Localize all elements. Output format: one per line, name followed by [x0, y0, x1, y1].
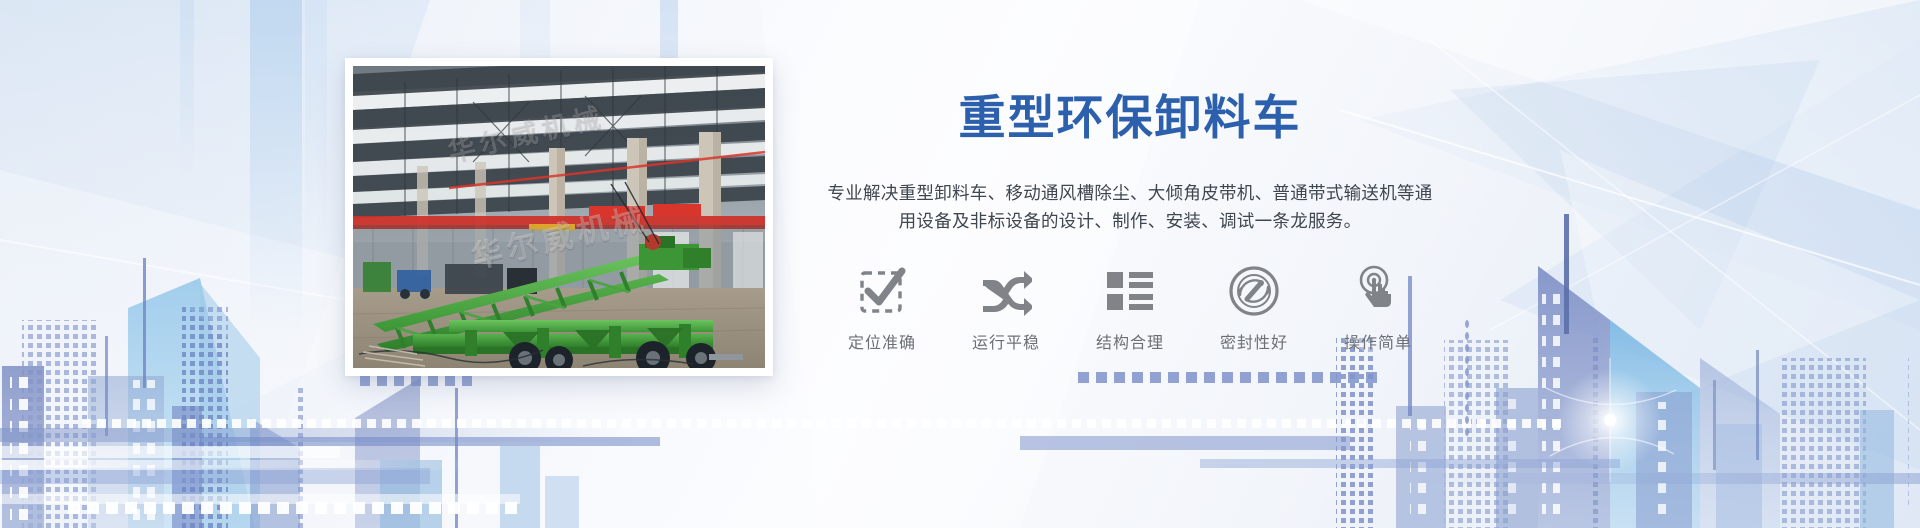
deco-square-rule [360, 376, 472, 386]
feature-label: 操作简单 [1344, 329, 1412, 353]
deco-column [180, 0, 194, 180]
deco-column [250, 0, 302, 330]
feature-label: 密封性好 [1220, 329, 1288, 353]
seal-gauge-icon [1228, 265, 1280, 317]
deco-bar [1400, 473, 1920, 484]
feature-label: 运行平稳 [972, 329, 1040, 353]
deco-square-rule [68, 502, 517, 514]
list-layout-icon [1104, 265, 1156, 317]
product-banner: 华尔威机械 华尔威机械 重型环保卸料车 专业解决重型卸料车、移动通风槽除尘、大倾… [0, 0, 1920, 528]
feature-label: 定位准确 [848, 329, 916, 353]
deco-bar [200, 437, 660, 446]
product-photo-card[interactable]: 华尔威机械 华尔威机械 [345, 58, 773, 376]
feature-item-structure[interactable]: 结构合理 [1068, 265, 1192, 353]
feature-item-smooth-operation[interactable]: 运行平稳 [944, 265, 1068, 353]
deco-dot-rule [82, 419, 1561, 428]
deco-bar [0, 460, 480, 470]
banner-content: 重型环保卸料车 专业解决重型卸料车、移动通风槽除尘、大倾角皮带机、普通带式输送机… [820, 92, 1440, 353]
product-photo: 华尔威机械 华尔威机械 [353, 66, 765, 368]
deco-column [305, 0, 327, 250]
checkbox-dashed-icon [856, 265, 908, 317]
banner-description: 专业解决重型卸料车、移动通风槽除尘、大倾角皮带机、普通带式输送机等通用设备及非标… [820, 179, 1440, 236]
shuffle-arrows-icon [980, 265, 1032, 317]
feature-list: 定位准确 运行平稳 [820, 265, 1440, 353]
feature-item-sealing[interactable]: 密封性好 [1192, 265, 1316, 353]
deco-bar [1020, 436, 1350, 450]
deco-bar [0, 428, 620, 442]
deco-vertical-dots [1464, 318, 1470, 438]
feature-label: 结构合理 [1096, 329, 1164, 353]
deco-bar [1200, 459, 1620, 468]
hand-tap-icon [1352, 265, 1404, 317]
feature-item-positioning[interactable]: 定位准确 [820, 265, 944, 353]
deco-square-rule [1078, 372, 1377, 383]
page-title: 重型环保卸料车 [820, 92, 1440, 145]
feature-item-easy-operation[interactable]: 操作简单 [1316, 265, 1440, 353]
